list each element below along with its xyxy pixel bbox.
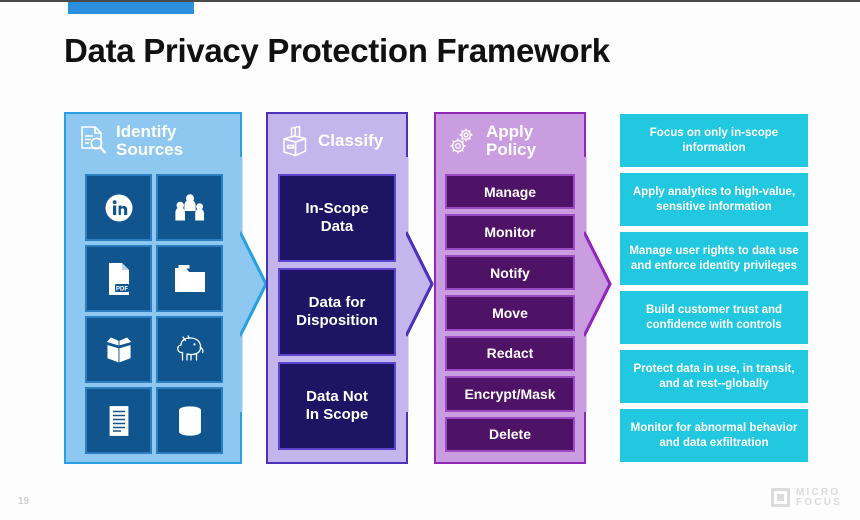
outcome-line2: and data exfiltration	[659, 437, 768, 449]
brand-wordmark: MICRO FOCUS	[796, 488, 842, 508]
slide-canvas: Data Privacy Protection Framework Identi…	[0, 0, 860, 520]
top-accent-bar	[68, 2, 194, 14]
svg-text:PDF: PDF	[115, 285, 128, 292]
brand-line2: FOCUS	[796, 498, 842, 508]
classify-category-list: In-Scope Data Data for Disposition Data …	[278, 174, 396, 450]
classify-item-line1: In-Scope	[305, 200, 368, 217]
stage-panel-apply-policy: Apply Policy Manage Monitor Notify Move …	[434, 112, 586, 464]
policy-action-delete[interactable]: Delete	[445, 417, 575, 452]
classify-item-line1: Data for	[309, 294, 366, 311]
classify-item-line1: Data Not	[306, 388, 368, 405]
source-tile-pdf[interactable]: PDF	[85, 245, 152, 312]
panel-title-identify: Identify Sources	[116, 123, 183, 160]
policy-action-redact[interactable]: Redact	[445, 336, 575, 371]
classify-item-data-for-disposition[interactable]: Data for Disposition	[278, 268, 396, 356]
policy-action-notify[interactable]: Notify	[445, 255, 575, 290]
outcome-item-build-customer-trust[interactable]: Build customer trust and confidence with…	[620, 291, 808, 344]
outcome-item-apply-analytics[interactable]: Apply analytics to high-value, sensitive…	[620, 173, 808, 226]
source-tile-open-box[interactable]	[85, 316, 152, 383]
outcome-item-protect-data[interactable]: Protect data in use, in transit, and at …	[620, 350, 808, 403]
policy-action-encrypt-mask[interactable]: Encrypt/Mask	[445, 376, 575, 411]
source-tile-folder[interactable]	[156, 245, 223, 312]
classify-item-line2: Data	[321, 218, 354, 235]
outcome-line1: Apply analytics to high-value,	[633, 186, 795, 198]
document-search-icon	[76, 123, 110, 159]
page-title: Data Privacy Protection Framework	[64, 32, 610, 70]
source-tile-text-document[interactable]	[85, 387, 152, 454]
panel-title-line1: Apply	[486, 122, 533, 141]
brand-logo: MICRO FOCUS	[771, 488, 842, 508]
classify-item-in-scope-data[interactable]: In-Scope Data	[278, 174, 396, 262]
panel-title-line1: Identify	[116, 122, 176, 141]
policy-action-monitor[interactable]: Monitor	[445, 214, 575, 249]
outcome-line1: Protect data in use, in transit,	[633, 363, 794, 375]
stage-panel-identify-sources: Identify Sources	[64, 112, 242, 464]
outcome-line2: information	[682, 142, 745, 154]
source-tile-linkedin[interactable]	[85, 174, 152, 241]
source-tile-hadoop-elephant[interactable]	[156, 316, 223, 383]
page-number: 19	[18, 496, 29, 507]
outcome-line2: sensitive information	[656, 201, 772, 213]
source-tile-people[interactable]	[156, 174, 223, 241]
panel-title-line2: Policy	[486, 140, 536, 159]
outcome-item-monitor-abnormal[interactable]: Monitor for abnormal behavior and data e…	[620, 409, 808, 462]
panel-title-line2: Sources	[116, 140, 183, 159]
panel-header-identify: Identify Sources	[64, 112, 242, 170]
outcome-list: Focus on only in-scope information Apply…	[620, 114, 808, 462]
outcome-line2: confidence with controls	[646, 319, 781, 331]
file-box-icon	[278, 123, 312, 159]
outcome-item-focus-in-scope[interactable]: Focus on only in-scope information	[620, 114, 808, 167]
outcome-item-manage-user-rights[interactable]: Manage user rights to data use and enfor…	[620, 232, 808, 285]
source-tile-database[interactable]	[156, 387, 223, 454]
panel-header-classify: Classify	[266, 112, 408, 170]
flow-arrow-policy-to-outcomes	[584, 157, 612, 412]
stage-panel-classify: Classify In-Scope Data Data for Disposit…	[266, 112, 408, 464]
flow-arrow-classify-to-policy	[406, 157, 434, 412]
square-outline-icon	[771, 488, 790, 507]
source-tile-grid: PDF	[85, 174, 223, 454]
classify-item-line2: Disposition	[296, 312, 378, 329]
classify-item-line2: In Scope	[306, 406, 369, 423]
panel-title-policy: Apply Policy	[486, 123, 536, 160]
outcome-line1: Focus on only in-scope	[650, 127, 778, 139]
panel-title-classify: Classify	[318, 132, 383, 150]
outcome-line1: Manage user rights to data use	[629, 245, 798, 257]
policy-action-list: Manage Monitor Notify Move Redact Encryp…	[445, 174, 575, 452]
outcome-line2: and at rest--globally	[659, 378, 768, 390]
outcome-line2: and enforce identity privileges	[631, 260, 797, 272]
gears-icon	[446, 123, 480, 159]
flow-arrow-identify-to-classify	[240, 157, 268, 412]
outcome-line1: Monitor for abnormal behavior	[631, 422, 798, 434]
panel-header-policy: Apply Policy	[434, 112, 586, 170]
policy-action-manage[interactable]: Manage	[445, 174, 575, 209]
classify-item-data-not-in-scope[interactable]: Data Not In Scope	[278, 362, 396, 450]
policy-action-move[interactable]: Move	[445, 295, 575, 330]
outcome-line1: Build customer trust and	[646, 304, 782, 316]
